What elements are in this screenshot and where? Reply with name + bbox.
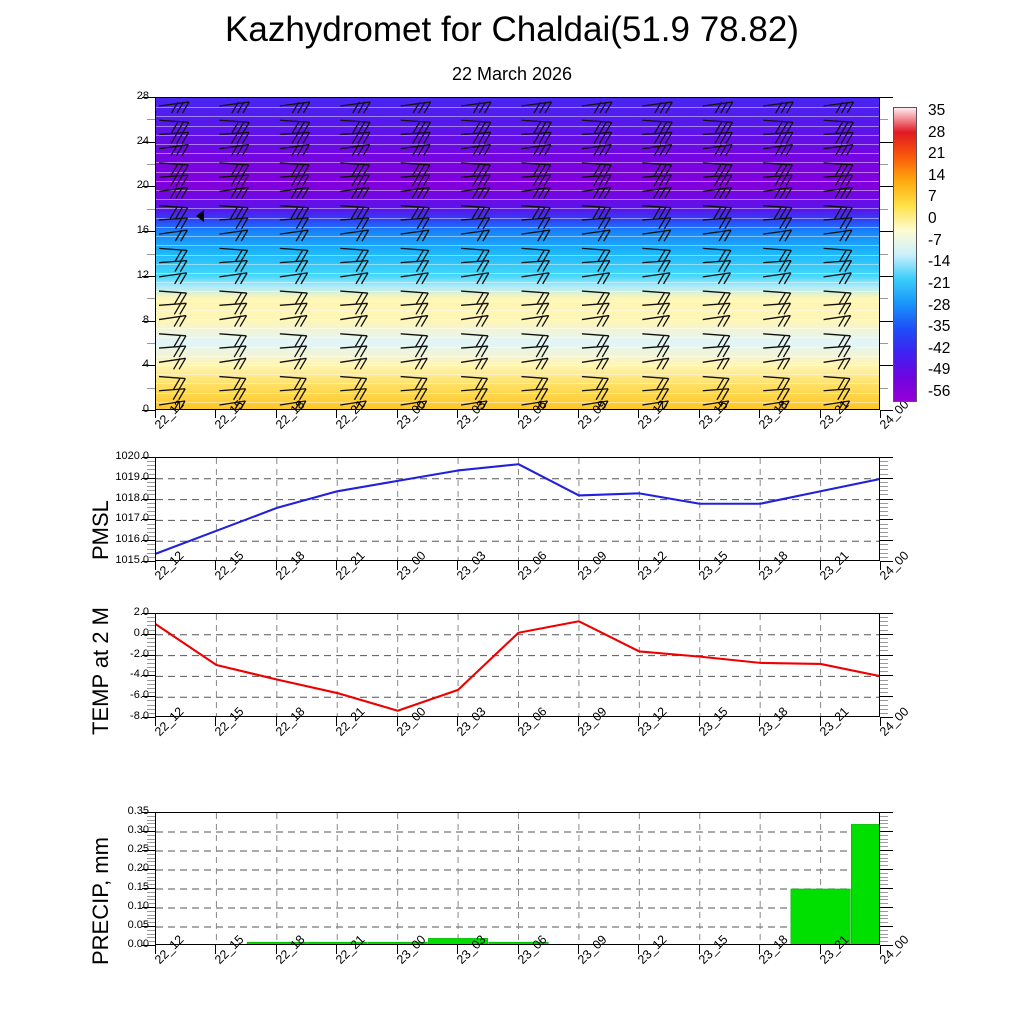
wind-barb — [763, 102, 793, 113]
y-tick-major — [142, 613, 155, 614]
y-tick-major-right — [880, 850, 893, 851]
y-tick-major — [142, 561, 155, 562]
y-axis-label: -2.0 — [93, 648, 149, 660]
y-tick-minor — [147, 254, 155, 255]
precip-bars — [156, 813, 880, 945]
y-tick-major — [142, 457, 155, 458]
wind-barb — [159, 132, 189, 143]
wind-barb — [824, 145, 853, 156]
y-tick-minor — [147, 553, 155, 554]
y-tick-minor-right — [880, 465, 888, 466]
y-tick-minor — [147, 705, 155, 706]
y-tick-major — [142, 231, 155, 232]
wind-barb — [824, 346, 851, 357]
wind-barb — [461, 132, 491, 143]
wind-barb — [401, 230, 429, 241]
wind-barb — [642, 291, 670, 304]
y-tick-minor-right — [880, 494, 888, 495]
y-tick-major-right — [880, 926, 893, 927]
wind-barb — [340, 102, 370, 113]
wind-barb — [280, 389, 306, 400]
wind-barb — [522, 377, 548, 390]
y-tick-minor-right — [880, 911, 888, 912]
wind-barb — [159, 230, 187, 241]
wind-barb — [763, 163, 792, 176]
y-tick-minor-right — [880, 820, 888, 821]
wind-barb — [461, 175, 490, 186]
wind-barb — [642, 273, 670, 284]
wind-barb — [582, 248, 610, 261]
wind-barb — [401, 316, 428, 327]
y-tick-minor-right — [880, 823, 888, 824]
y-axis-label: 1017.0 — [93, 512, 149, 524]
y-tick-minor — [147, 557, 155, 558]
wind-barb — [159, 316, 186, 327]
y-tick-minor — [147, 532, 155, 533]
colorbar-tick-label: -7 — [928, 232, 942, 250]
wind-barb — [522, 334, 549, 347]
y-tick-minor — [147, 511, 155, 512]
y-tick-minor — [147, 899, 155, 900]
y-tick-major-right — [880, 186, 893, 187]
wind-barb — [824, 230, 852, 241]
wind-barb — [522, 175, 551, 186]
wind-barb — [763, 187, 792, 198]
wind-barb — [219, 132, 249, 143]
wind-barb — [340, 187, 369, 198]
wind-barb — [401, 132, 431, 143]
temp2m-plot[interactable] — [155, 613, 880, 717]
y-tick-minor-right — [880, 343, 888, 344]
colorbar — [893, 107, 917, 402]
wind-barb — [159, 346, 186, 357]
y-axis-label: 4 — [93, 358, 149, 370]
wind-barb — [219, 273, 247, 284]
colorbar-tick-label: -56 — [928, 383, 950, 401]
y-tick-major — [142, 519, 155, 520]
wind-barb — [582, 206, 611, 219]
y-tick-minor-right — [880, 873, 888, 874]
y-axis-label: -6.0 — [93, 689, 149, 701]
wind-barb — [280, 358, 307, 369]
wind-barb — [159, 218, 187, 229]
y-tick-minor — [147, 515, 155, 516]
y-tick-minor-right — [880, 638, 888, 639]
wind-barb — [582, 120, 612, 133]
y-tick-major — [142, 410, 155, 411]
y-axis-label: 0.20 — [93, 862, 149, 874]
wind-barb — [340, 218, 368, 229]
wind-barb — [401, 291, 429, 304]
y-tick-major-right — [880, 142, 893, 143]
wind-barb — [461, 358, 488, 369]
y-tick-minor-right — [880, 388, 888, 389]
y-tick-minor-right — [880, 854, 888, 855]
wind-barb — [340, 132, 370, 143]
wind-barb — [763, 273, 791, 284]
y-tick-major-right — [880, 519, 893, 520]
y-tick-minor-right — [880, 842, 888, 843]
y-axis-label: 1020.0 — [93, 450, 149, 462]
wind-barb — [219, 389, 245, 400]
y-tick-minor-right — [880, 254, 888, 255]
wind-barb — [642, 346, 669, 357]
y-tick-minor-right — [880, 486, 888, 487]
wind-barb — [461, 102, 491, 113]
y-tick-major-right — [880, 97, 893, 98]
y-tick-minor-right — [880, 524, 888, 525]
y-tick-minor-right — [880, 934, 888, 935]
wind-barb — [642, 145, 671, 156]
wind-barb — [763, 132, 793, 143]
wind-barb — [763, 248, 791, 261]
wind-barb — [824, 377, 850, 390]
pmsl-plot[interactable] — [155, 457, 880, 561]
y-tick-minor-right — [880, 544, 888, 545]
wind-barb — [703, 389, 729, 400]
colorbar-tick-label: 35 — [928, 102, 945, 120]
y-tick-minor — [147, 684, 155, 685]
wind-barb — [401, 120, 431, 133]
wind-barb — [582, 163, 611, 176]
wind-barb — [280, 334, 307, 347]
wind-barb — [461, 334, 488, 347]
y-tick-major-right — [880, 321, 893, 322]
wind-barb — [522, 273, 550, 284]
y-tick-minor — [147, 549, 155, 550]
y-tick-major-right — [880, 869, 893, 870]
wind-barb — [824, 163, 853, 176]
wind-barb — [280, 145, 309, 156]
y-tick-minor-right — [880, 903, 888, 904]
y-tick-minor-right — [880, 884, 888, 885]
wind-barb — [401, 187, 430, 198]
wind-barb — [642, 187, 671, 198]
wind-barb — [522, 291, 550, 304]
y-tick-minor — [147, 507, 155, 508]
wind-barb — [461, 273, 489, 284]
wind-barb — [280, 120, 310, 133]
wind-barb — [642, 175, 671, 186]
y-tick-minor — [147, 671, 155, 672]
y-tick-major — [142, 655, 155, 656]
y-tick-major-right — [880, 231, 893, 232]
wind-barb — [401, 145, 430, 156]
wind-barb — [159, 291, 187, 304]
wind-barb — [159, 163, 188, 176]
wind-barb — [824, 261, 852, 272]
y-tick-minor-right — [880, 659, 888, 660]
wind-barb — [703, 206, 732, 219]
wind-barb — [582, 230, 610, 241]
y-tick-minor-right — [880, 549, 888, 550]
wind-barb — [763, 291, 791, 304]
colorbar-tick-label: -35 — [928, 318, 950, 336]
wind-barb — [340, 316, 367, 327]
wind-barb — [763, 303, 790, 314]
y-tick-minor-right — [880, 692, 888, 693]
wind-barb — [401, 248, 429, 261]
colorbar-tick-label: 14 — [928, 167, 945, 185]
wind-barb — [340, 145, 369, 156]
wind-barb — [582, 389, 608, 400]
wind-barb — [401, 346, 428, 357]
wind-barb — [703, 120, 733, 133]
x-axis-label: 24_00 — [877, 397, 911, 431]
y-tick-minor-right — [880, 877, 888, 878]
y-axis-label: 0.15 — [93, 881, 149, 893]
colorbar-tick-label: -49 — [928, 361, 950, 379]
wind-barb — [582, 291, 610, 304]
colorbar-tick-label: 0 — [928, 210, 937, 228]
y-tick-minor — [147, 865, 155, 866]
wind-barb — [642, 303, 669, 314]
wind-barb — [340, 273, 368, 284]
wind-barb — [763, 230, 791, 241]
cross-section-plot[interactable] — [155, 97, 880, 410]
y-tick-minor — [147, 630, 155, 631]
y-tick-minor — [147, 937, 155, 938]
y-tick-major-right — [880, 907, 893, 908]
wind-barb — [642, 316, 669, 327]
y-tick-major-right — [880, 276, 893, 277]
wind-barb — [703, 377, 729, 390]
y-tick-major-right — [880, 634, 893, 635]
wind-barb — [219, 377, 245, 390]
y-tick-minor — [147, 903, 155, 904]
wind-barb — [703, 132, 733, 143]
wind-barb — [219, 230, 247, 241]
y-tick-minor-right — [880, 671, 888, 672]
y-tick-major — [142, 869, 155, 870]
y-tick-minor — [147, 298, 155, 299]
wind-barb — [340, 346, 367, 357]
y-tick-major — [142, 850, 155, 851]
wind-barb — [219, 120, 249, 133]
y-tick-major — [142, 142, 155, 143]
wind-barb — [340, 334, 367, 347]
wind-barb — [522, 102, 552, 113]
y-tick-major — [142, 321, 155, 322]
wind-barb — [340, 261, 368, 272]
wind-barb — [763, 377, 789, 390]
y-tick-major — [142, 945, 155, 946]
wind-barb — [582, 261, 610, 272]
wind-barb — [703, 175, 732, 186]
wind-barb — [824, 303, 851, 314]
wind-barb — [280, 273, 308, 284]
wind-barb — [824, 334, 851, 347]
precip-plot[interactable] — [155, 812, 880, 945]
y-tick-minor — [147, 842, 155, 843]
y-tick-minor-right — [880, 503, 888, 504]
wind-barb — [401, 163, 430, 176]
colorbar-gradient — [894, 108, 916, 401]
wind-barb — [159, 120, 189, 133]
y-tick-minor-right — [880, 835, 888, 836]
wind-barb — [219, 187, 248, 198]
wind-barb — [522, 145, 551, 156]
y-tick-minor-right — [880, 892, 888, 893]
wind-barb — [280, 377, 306, 390]
wind-barb — [461, 248, 489, 261]
y-tick-minor-right — [880, 713, 888, 714]
wind-barb — [522, 132, 552, 143]
y-tick-minor-right — [880, 667, 888, 668]
wind-barb — [824, 358, 851, 369]
y-axis-label: 1019.0 — [93, 471, 149, 483]
y-tick-major — [142, 540, 155, 541]
y-axis-label: -4.0 — [93, 668, 149, 680]
wind-barb — [642, 389, 668, 400]
y-tick-major — [142, 499, 155, 500]
wind-barb — [280, 132, 310, 143]
y-tick-major-right — [880, 365, 893, 366]
y-tick-major — [142, 907, 155, 908]
wind-barb — [280, 230, 308, 241]
y-axis-label: 1016.0 — [93, 533, 149, 545]
wind-barb — [522, 303, 549, 314]
wind-barb — [219, 145, 248, 156]
wind-barb — [340, 230, 368, 241]
wind-barb — [582, 316, 609, 327]
wind-barb — [522, 248, 550, 261]
y-tick-major-right — [880, 499, 893, 500]
wind-barb — [461, 291, 489, 304]
precip-bar — [851, 824, 880, 945]
y-tick-minor — [147, 209, 155, 210]
wind-barb — [340, 358, 367, 369]
y-tick-minor-right — [880, 553, 888, 554]
y-axis-label: 0.25 — [93, 843, 149, 855]
y-axis-label: 24 — [93, 135, 149, 147]
y-tick-minor — [147, 709, 155, 710]
wind-barb — [763, 261, 791, 272]
y-tick-minor — [147, 827, 155, 828]
wind-barb — [763, 358, 790, 369]
wind-barb — [824, 273, 852, 284]
colorbar-tick-label: -28 — [928, 297, 950, 315]
wind-barb — [763, 145, 792, 156]
y-tick-minor — [147, 465, 155, 466]
y-tick-minor — [147, 820, 155, 821]
wind-barb — [763, 346, 790, 357]
wind-barb — [642, 132, 672, 143]
wind-barb — [219, 175, 248, 186]
wind-barb — [340, 163, 369, 176]
wind-barb — [642, 377, 668, 390]
y-tick-minor-right — [880, 705, 888, 706]
wind-barb — [159, 261, 187, 272]
wind-barb — [219, 316, 246, 327]
y-tick-minor-right — [880, 858, 888, 859]
wind-barb — [642, 102, 672, 113]
wind-barb — [582, 334, 609, 347]
y-tick-minor-right — [880, 861, 888, 862]
y-tick-minor-right — [880, 119, 888, 120]
wind-barb — [219, 163, 248, 176]
wind-barb — [522, 206, 551, 219]
y-tick-minor-right — [880, 915, 888, 916]
y-tick-minor-right — [880, 536, 888, 537]
wind-barb — [401, 102, 431, 113]
y-axis-label: 0.10 — [93, 900, 149, 912]
y-tick-minor — [147, 880, 155, 881]
wind-barb — [582, 346, 609, 357]
wind-barb — [522, 389, 548, 400]
y-axis-label: 1015.0 — [93, 554, 149, 566]
y-tick-minor — [147, 934, 155, 935]
wind-barb — [703, 358, 730, 369]
y-tick-minor — [147, 941, 155, 942]
wind-barb — [522, 230, 550, 241]
y-tick-minor-right — [880, 899, 888, 900]
y-tick-minor-right — [880, 642, 888, 643]
y-tick-major-right — [880, 831, 893, 832]
y-tick-minor-right — [880, 896, 888, 897]
wind-barb — [642, 206, 671, 219]
wind-barb — [582, 303, 609, 314]
y-tick-minor — [147, 922, 155, 923]
wind-barb — [582, 187, 611, 198]
wind-barb — [280, 316, 307, 327]
wind-barb — [401, 358, 428, 369]
wind-barb — [763, 389, 789, 400]
wind-barb — [280, 346, 307, 357]
wind-barb — [763, 206, 792, 219]
wind-barb — [824, 389, 850, 400]
wind-barb — [461, 145, 490, 156]
wind-barb — [401, 273, 429, 284]
y-tick-minor — [147, 486, 155, 487]
wind-barb — [703, 163, 732, 176]
wind-barb — [824, 175, 853, 186]
colorbar-tick-label: 7 — [928, 188, 937, 206]
y-tick-minor-right — [880, 617, 888, 618]
y-tick-minor — [147, 650, 155, 651]
y-axis-label: 0.35 — [93, 805, 149, 817]
wind-barb — [461, 303, 488, 314]
y-tick-minor — [147, 884, 155, 885]
wind-barb — [219, 346, 246, 357]
wind-barb — [340, 291, 368, 304]
wind-barb — [159, 206, 188, 219]
y-tick-minor-right — [880, 511, 888, 512]
wind-barb — [582, 102, 612, 113]
y-tick-major — [142, 97, 155, 98]
y-tick-minor-right — [880, 650, 888, 651]
y-tick-minor-right — [880, 646, 888, 647]
wind-barb — [582, 218, 610, 229]
wind-barb — [522, 120, 552, 133]
y-tick-minor — [147, 839, 155, 840]
wind-barb — [642, 218, 670, 229]
wind-barb — [159, 358, 186, 369]
y-tick-minor — [147, 536, 155, 537]
wind-barb — [461, 218, 489, 229]
wind-barb — [824, 120, 854, 133]
wind-barb — [219, 291, 247, 304]
wind-barb — [703, 102, 733, 113]
y-tick-minor-right — [880, 625, 888, 626]
y-tick-minor-right — [880, 482, 888, 483]
y-tick-major — [142, 634, 155, 635]
y-tick-minor — [147, 858, 155, 859]
y-tick-minor-right — [880, 922, 888, 923]
wind-barb — [340, 175, 369, 186]
y-axis-label: 0.05 — [93, 919, 149, 931]
y-axis-label: 0.00 — [93, 938, 149, 950]
